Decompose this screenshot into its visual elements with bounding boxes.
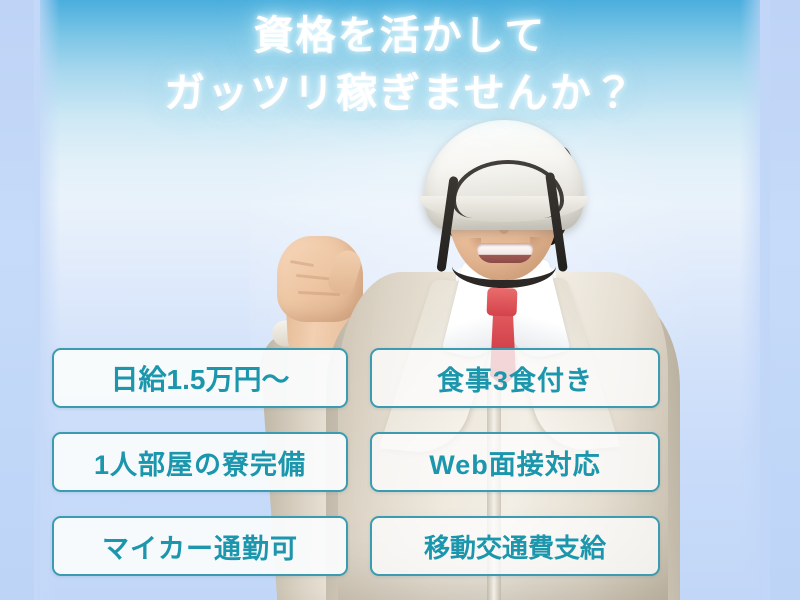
badge-label: 食事3食付き [437, 359, 593, 398]
badge-web-interview: Web面接対応 [370, 432, 660, 492]
badge-daily-wage: 日給1.5万円〜 [52, 348, 348, 408]
badge-label: マイカー通勤可 [102, 527, 298, 566]
recruitment-banner: 資格を活かして ガッツリ稼ぎませんか？ 日給1.5万円〜 食事3食付き 1人部屋… [0, 0, 800, 600]
badge-travel-allowance: 移動交通費支給 [370, 516, 660, 576]
badge-three-meals: 食事3食付き [370, 348, 660, 408]
badge-label: 日給1.5万円〜 [111, 358, 290, 398]
benefit-badge-grid: 日給1.5万円〜 食事3食付き 1人部屋の寮完備 Web面接対応 マイカー通勤可… [0, 0, 800, 600]
badge-car-commute: マイカー通勤可 [52, 516, 348, 576]
badge-label: Web面接対応 [429, 443, 601, 482]
badge-label: 1人部屋の寮完備 [94, 443, 306, 482]
badge-label: 移動交通費支給 [424, 528, 606, 565]
badge-private-dorm: 1人部屋の寮完備 [52, 432, 348, 492]
